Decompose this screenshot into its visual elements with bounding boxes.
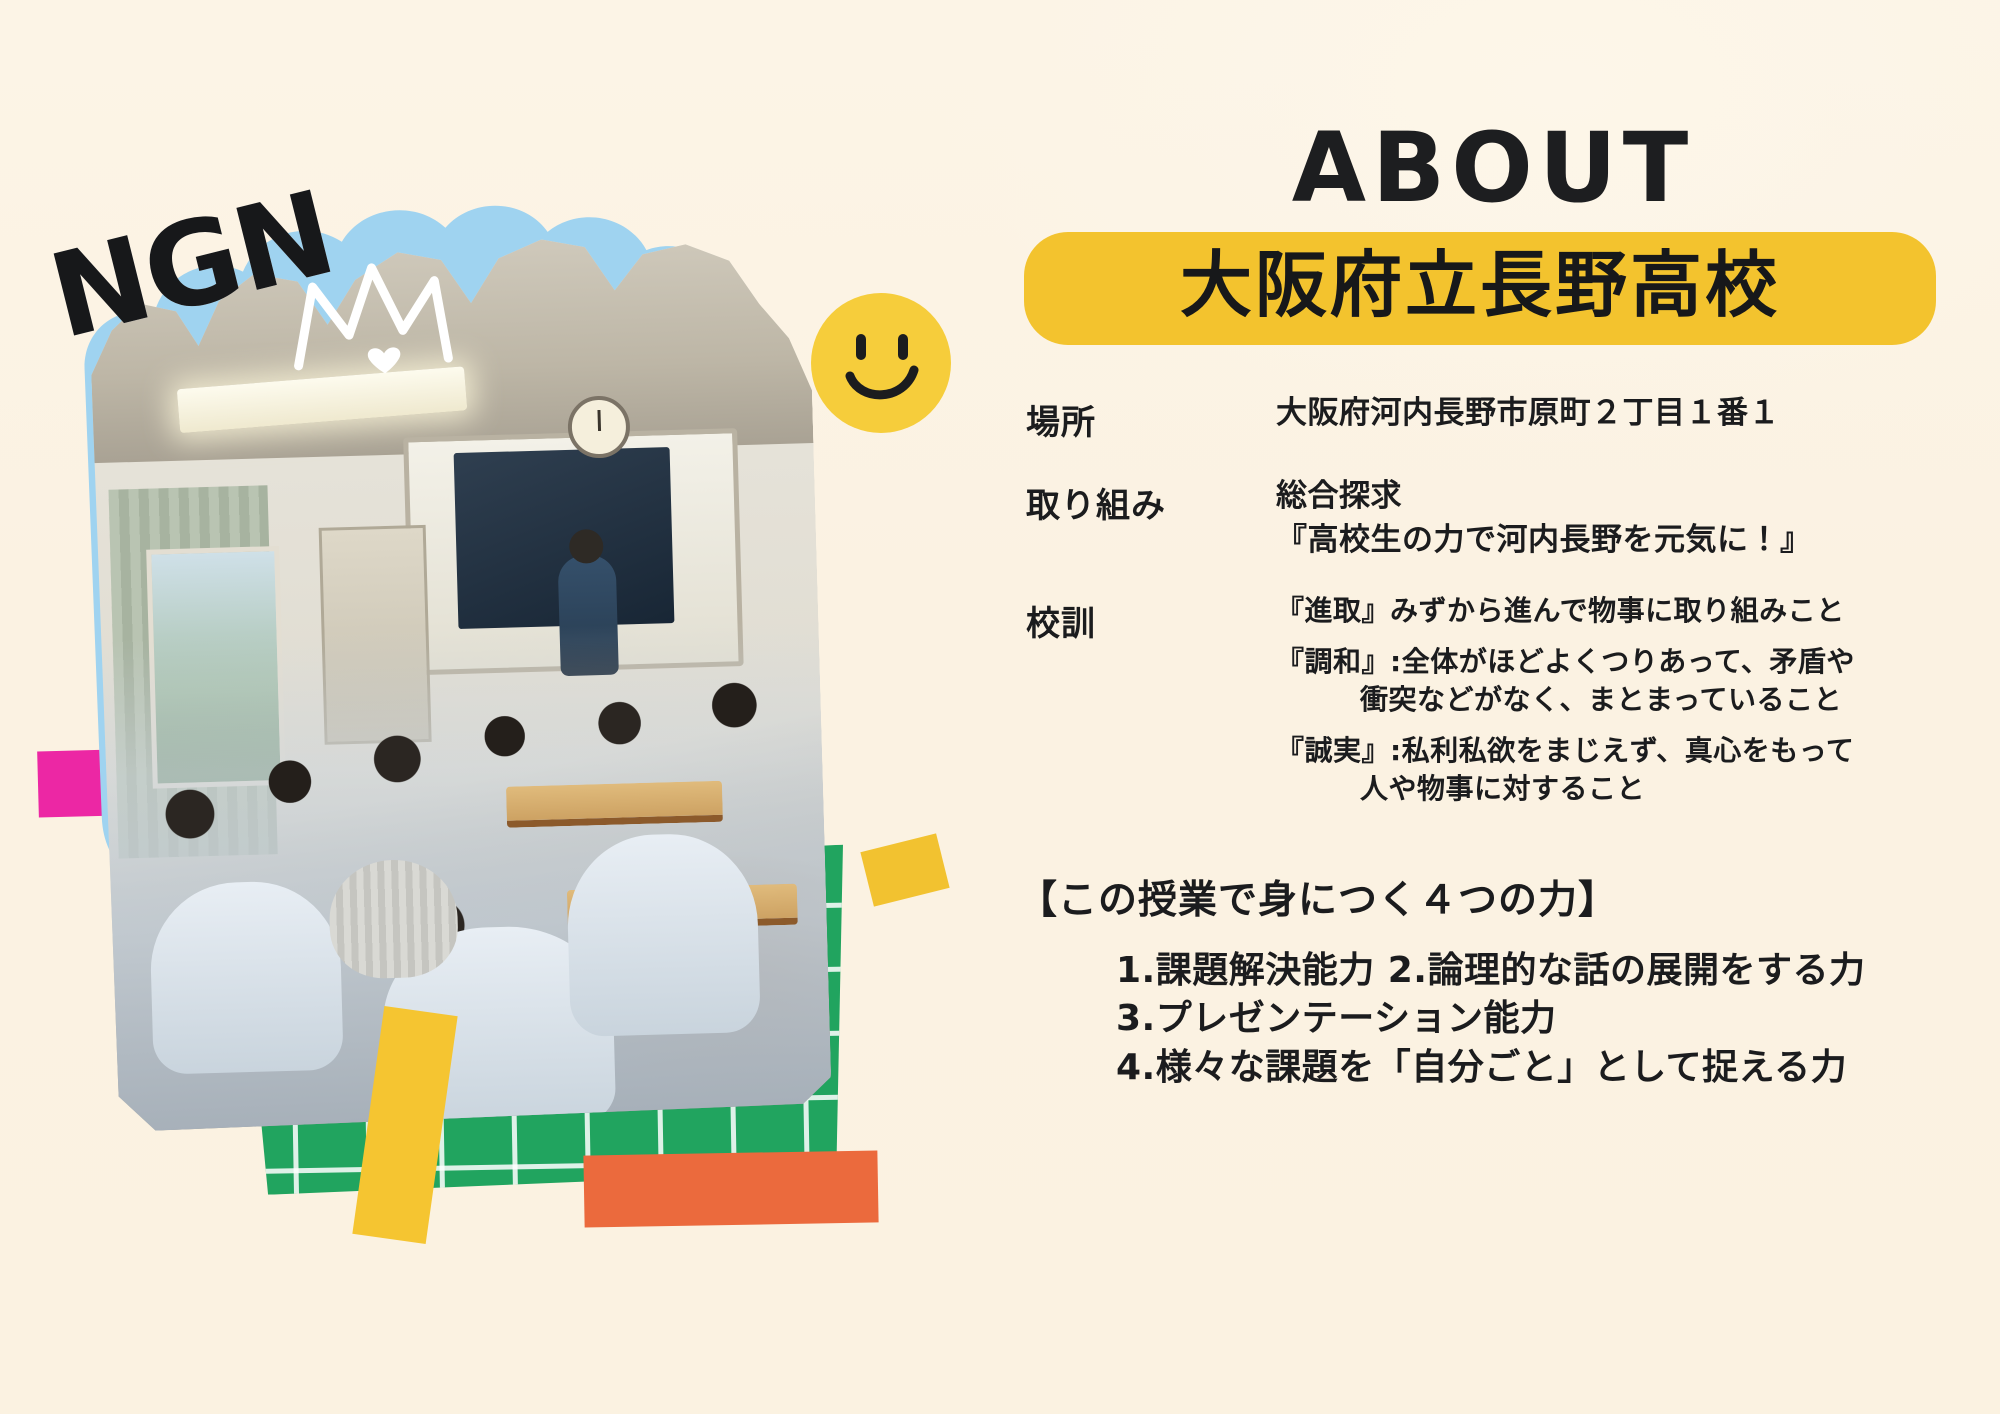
info-label-initiative: 取り組み	[1026, 474, 1276, 527]
motto-line: 『進取』みずから進んで物事に取り組みこと	[1276, 592, 1924, 630]
info-table: 場所 大阪府河内長野市原町２丁目１番１ 取り組み 総合探求 『高校生の力で河内長…	[1010, 391, 1950, 821]
poster-root: NGN ABOUT 大阪府立長野高校 場所	[0, 0, 2000, 1414]
info-label-motto: 校訓	[1026, 592, 1276, 645]
crown-icon	[283, 246, 460, 385]
location-line: 大阪府河内長野市原町２丁目１番１	[1276, 391, 1924, 435]
photo-desk	[506, 780, 723, 827]
school-name: 大阪府立長野高校	[1058, 244, 1902, 327]
school-name-banner: 大阪府立長野高校	[1024, 232, 1936, 345]
info-label-location: 場所	[1026, 391, 1276, 444]
powers-heading: 【この授業で身につく４つの力】	[1018, 869, 1950, 925]
classroom-photo-image	[88, 232, 832, 1132]
info-value-location: 大阪府河内長野市原町２丁目１番１	[1276, 391, 1924, 435]
powers-list: 1.課題解決能力 2.論理的な話の展開をする力 3.プレゼンテーション能力 4.…	[1116, 947, 1950, 1092]
classroom-photo	[88, 232, 832, 1132]
power-item: 3.プレゼンテーション能力	[1116, 995, 1950, 1043]
motto-item-shinshu: 『進取』みずから進んで物事に取り組みこと	[1276, 592, 1924, 630]
motto-line: 衝突などがなく、まとまっていること	[1276, 681, 1924, 719]
orange-block-decor	[583, 1150, 878, 1227]
photo-student-shirt	[565, 832, 761, 1037]
photo-student-shirt	[149, 879, 344, 1074]
info-row-motto: 校訓 『進取』みずから進んで物事に取り組みこと 『調和』:全体がほどよくつりあっ…	[1026, 592, 1924, 821]
info-row-location: 場所 大阪府河内長野市原町２丁目１番１	[1026, 391, 1924, 444]
power-item: 1.課題解決能力 2.論理的な話の展開をする力	[1116, 947, 1950, 995]
smiley-face-icon	[808, 290, 954, 436]
initiative-line: 総合探求	[1276, 474, 1924, 518]
yellow-tape-small-decor	[860, 833, 949, 906]
motto-line: 『誠実』:私利私欲をまじえず、真心をもって	[1276, 732, 1924, 770]
motto-line: 人や物事に対すること	[1276, 770, 1924, 808]
about-panel: ABOUT 大阪府立長野高校 場所 大阪府河内長野市原町２丁目１番１ 取り組み …	[1010, 120, 1950, 1092]
power-item: 4.様々な課題を「自分ごと」として捉える力	[1116, 1044, 1950, 1092]
photo-collage: NGN	[0, 150, 1000, 1250]
motto-item-seijitsu: 『誠実』:私利私欲をまじえず、真心をもって 人や物事に対すること	[1276, 732, 1924, 808]
motto-line: 『調和』:全体がほどよくつりあって、矛盾や	[1276, 643, 1924, 681]
page-title: ABOUT	[1010, 120, 1950, 216]
info-row-initiative: 取り組み 総合探求 『高校生の力で河内長野を元気に！』	[1026, 474, 1924, 562]
info-value-initiative: 総合探求 『高校生の力で河内長野を元気に！』	[1276, 474, 1924, 562]
info-value-motto: 『進取』みずから進んで物事に取り組みこと 『調和』:全体がほどよくつりあって、矛…	[1276, 592, 1924, 821]
initiative-line: 『高校生の力で河内長野を元気に！』	[1276, 518, 1924, 562]
motto-item-chowa: 『調和』:全体がほどよくつりあって、矛盾や 衝突などがなく、まとまっていること	[1276, 643, 1924, 719]
